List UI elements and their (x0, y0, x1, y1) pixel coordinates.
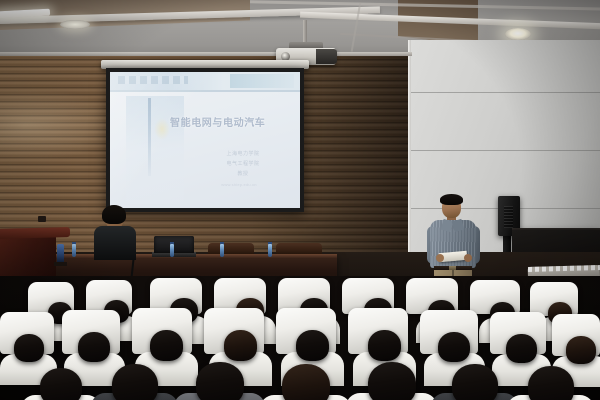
award-trophy (57, 244, 64, 263)
slide-presenter-name: 教授 (188, 170, 298, 177)
projection-screen: 智能电网与电动汽车 上海电力学院 电气工程学院 教授 www.shiep.edu… (110, 72, 300, 208)
seated-host-hair (102, 205, 126, 224)
projector-rear (316, 49, 337, 64)
audience-head (506, 334, 537, 363)
slide-subtitle-org-2: 电气工程学院 (188, 160, 298, 167)
wall-panel-seam (410, 92, 600, 93)
bottle-cap (170, 242, 174, 244)
slide-banner-photo (230, 74, 294, 88)
audience-head (150, 330, 183, 361)
seated-host-body (94, 226, 136, 260)
ceiling-downlight-icon (505, 28, 531, 40)
audience-head (282, 364, 330, 400)
slide-footer-url: www.shiep.edu.cn (180, 182, 298, 187)
audience-head (112, 364, 158, 400)
presenter-hand-right (464, 254, 472, 262)
audience-head (528, 366, 574, 400)
bottle-cap (220, 242, 224, 244)
audience-people (0, 276, 600, 400)
slide-left-graphic-bar (148, 98, 151, 176)
wall-plate (38, 216, 46, 222)
audience-head (566, 336, 596, 364)
presenter-hair (440, 194, 463, 205)
slide-subtitle-org-1: 上海电力学院 (188, 150, 298, 157)
bottle-cap (268, 242, 272, 244)
audience-head (438, 332, 470, 362)
seated-host (92, 205, 138, 257)
speaker-grille (504, 206, 513, 228)
presenter-hand-left (436, 254, 444, 262)
audience-head (368, 362, 416, 400)
audience-head (368, 330, 401, 361)
water-bottle (220, 244, 224, 257)
slide-banner-logo-strip (118, 76, 188, 84)
audience-head (14, 334, 44, 362)
slide-banner-divider (110, 90, 300, 92)
audience-head (78, 332, 110, 362)
slide-left-graphic-glow (154, 118, 170, 140)
slide-left-graphic (126, 96, 184, 204)
audience-head (40, 368, 82, 400)
ceiling-downlight-icon (60, 20, 90, 29)
water-bottle (72, 244, 76, 257)
audience-head (196, 362, 244, 400)
water-bottle (170, 244, 174, 257)
bottle-cap (72, 242, 76, 244)
audience-head (224, 330, 257, 361)
audience-head (296, 330, 329, 361)
slide-title: 智能电网与电动汽车 (170, 114, 298, 129)
water-bottle (268, 244, 272, 257)
laptop (154, 236, 194, 253)
audience-head (452, 364, 498, 400)
lecture-hall-photo: 智能电网与电动汽车 上海电力学院 电气工程学院 教授 www.shiep.edu… (0, 0, 600, 400)
lectern-top (0, 227, 70, 239)
wall-top-trim (0, 52, 412, 56)
trophy-base (54, 262, 67, 266)
wall-panel-seam (410, 150, 600, 151)
